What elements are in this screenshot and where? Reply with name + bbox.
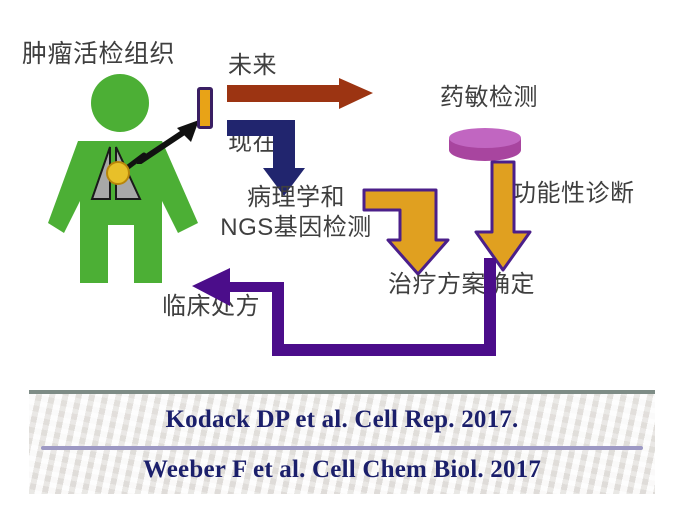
label-pathology-ngs: 病理学和 NGS基因检测	[206, 183, 386, 243]
functional-diagnosis-arrow-icon	[473, 160, 533, 272]
petri-dish-icon	[447, 128, 523, 162]
label-drug-sensitivity: 药敏检测	[440, 85, 538, 112]
sample-vial-icon	[197, 87, 213, 129]
future-arrow-icon	[227, 78, 375, 110]
label-future: 未来	[228, 53, 277, 80]
title-tumor-biopsy: 肿瘤活检组织	[22, 40, 175, 68]
citation-banner: Kodack DP et al. Cell Rep. 2017. Weeber …	[29, 390, 655, 494]
feedback-loop-arrow-icon	[188, 258, 496, 362]
citation-line-2: Weeber F et al. Cell Chem Biol. 2017	[29, 456, 655, 484]
human-patient-icon	[48, 73, 208, 298]
slide-canvas: 肿瘤活检组织 未来 现在 病理学和 NGS基因检测 药敏检测	[0, 0, 682, 519]
banner-divider	[41, 446, 643, 450]
citation-line-1: Kodack DP et al. Cell Rep. 2017.	[29, 406, 655, 434]
